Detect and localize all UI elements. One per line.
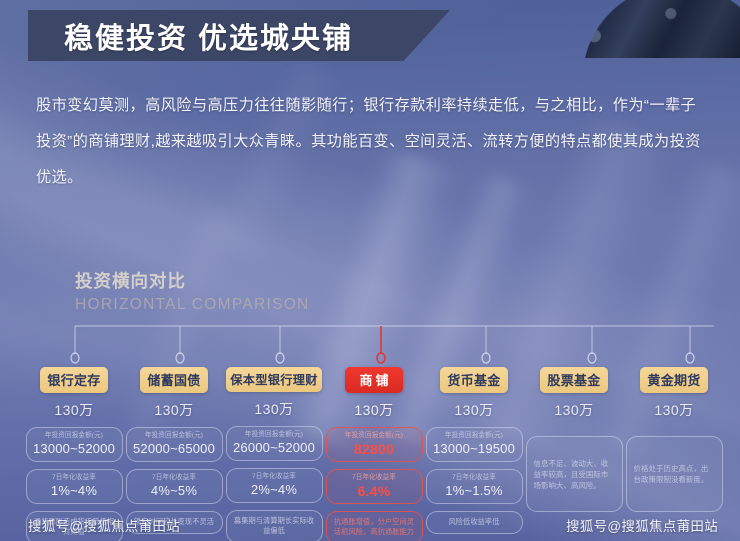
metric-label: 年投资回报金额(元) xyxy=(429,431,520,440)
metric-cell-yield: 7日年化收益率 6.4% xyxy=(326,469,423,504)
metric-cell-yield: 7日年化收益率 1%~4% xyxy=(26,469,123,504)
body-paragraph: 股市变幻莫测，高风险与高压力往往随影随行；银行存款利率持续走低，与之相比，作为“… xyxy=(36,88,708,196)
note-text: 风险低收益率低 xyxy=(431,517,518,527)
metric-cell-note: 价格处于历史高点，出台政策限制没看新度。 xyxy=(626,436,723,512)
metric-label: 7日年化收益率 xyxy=(29,473,120,482)
column-title: 黄金期货 xyxy=(640,367,707,393)
comparison-column-highlighted[interactable]: 商铺 130万 年投资回报金额(元) 82800 7日年化收益率 6.4% 抗通… xyxy=(324,367,424,527)
metric-label: 7日年化收益率 xyxy=(429,473,520,482)
column-title: 股票基金 xyxy=(540,367,607,393)
column-principal: 130万 xyxy=(54,400,93,420)
column-principal: 130万 xyxy=(154,400,193,420)
watermark-left: 搜狐号@搜狐焦点莆田站 xyxy=(28,515,180,535)
metric-cell-note: 信息不足、波动大、收益率较高，且受国际市场影响大、高风险。 xyxy=(526,436,623,512)
note-text: 信息不足、波动大、收益率较高，且受国际市场影响大、高风险。 xyxy=(534,458,615,491)
comparison-column[interactable]: 保本型银行理财 130万 年投资回报金额(元) 26000~52000 7日年化… xyxy=(224,367,324,527)
column-principal: 130万 xyxy=(254,399,293,419)
metric-cell-return: 年投资回报金额(元) 82800 xyxy=(326,427,423,462)
metric-cell-note: 抗通胀增值，分户空间灵活机风险，高抗通胀能力 xyxy=(326,511,423,541)
metric-value: 13000~19500 xyxy=(429,441,520,457)
note-text: 抗通胀增值，分户空间灵活机风险，高抗通胀能力 xyxy=(331,517,418,537)
watermark-right: 搜狐号@搜狐焦点莆田站 xyxy=(566,515,718,535)
comparison-column[interactable]: 储蓄国债 130万 年投资回报金额(元) 52000~65000 7日年化收益率… xyxy=(124,367,224,527)
metric-label: 年投资回报金额(元) xyxy=(229,430,320,439)
title-banner: 稳健投资 优选城央铺 xyxy=(28,10,450,61)
metric-label: 7日年化收益率 xyxy=(329,473,420,482)
metric-cell-yield: 7日年化收益率 1%~1.5% xyxy=(426,469,523,504)
metric-value: 1%~1.5% xyxy=(429,483,520,499)
metric-value: 52000~65000 xyxy=(129,441,220,457)
metric-cell-return: 年投资回报金额(元) 13000~52000 xyxy=(26,427,123,462)
metric-cell-yield: 7日年化收益率 4%~5% xyxy=(126,469,223,504)
column-title: 保本型银行理财 xyxy=(226,367,321,392)
column-principal: 130万 xyxy=(354,400,393,420)
comparison-columns: 银行定存 130万 年投资回报金额(元) 13000~52000 7日年化收益率… xyxy=(24,367,724,527)
section-heading-cn: 投资横向对比 xyxy=(75,268,310,293)
metric-label: 7日年化收益率 xyxy=(129,473,220,482)
comparison-column[interactable]: 黄金期货 130万 价格处于历史高点，出台政策限制没看新度。 xyxy=(624,367,724,527)
poster-canvas: 稳健投资 优选城央铺 股市变幻莫测，高风险与高压力往往随影随行；银行存款利率持续… xyxy=(0,0,740,541)
metric-value: 82800 xyxy=(329,441,420,457)
column-principal: 130万 xyxy=(554,400,593,420)
metric-label: 7日年化收益率 xyxy=(229,472,320,481)
aerial-photo-image xyxy=(558,0,740,58)
metric-value: 26000~52000 xyxy=(229,440,320,456)
metric-cell-yield: 7日年化收益率 2%~4% xyxy=(226,468,323,503)
metric-value: 13000~52000 xyxy=(29,441,120,457)
column-title: 货币基金 xyxy=(440,367,507,393)
comparison-column[interactable]: 银行定存 130万 年投资回报金额(元) 13000~52000 7日年化收益率… xyxy=(24,367,124,527)
metric-value: 1%~4% xyxy=(29,483,120,499)
metric-label: 年投资回报金额(元) xyxy=(129,431,220,440)
column-title: 储蓄国债 xyxy=(140,367,207,393)
metric-cell-note: 风险低收益率低 xyxy=(426,511,523,534)
metric-value: 6.4% xyxy=(329,483,420,499)
comparison-column[interactable]: 货币基金 130万 年投资回报金额(元) 13000~19500 7日年化收益率… xyxy=(424,367,524,527)
section-heading: 投资横向对比 HORIZONTAL COMPARISON xyxy=(75,268,310,314)
column-principal: 130万 xyxy=(654,400,693,420)
metric-value: 2%~4% xyxy=(229,482,320,498)
section-heading-en: HORIZONTAL COMPARISON xyxy=(75,296,310,314)
metric-value: 4%~5% xyxy=(129,483,220,499)
metric-cell-note: 募集期与清算期长实际收益偏低 xyxy=(226,510,323,541)
metric-cell-return: 年投资回报金额(元) 52000~65000 xyxy=(126,427,223,462)
column-title: 商铺 xyxy=(345,367,402,393)
note-text: 价格处于历史高点，出台政策限制没看新度。 xyxy=(634,463,715,485)
timeline-connector xyxy=(0,322,740,368)
column-title: 银行定存 xyxy=(40,367,107,393)
note-text: 募集期与清算期长实际收益偏低 xyxy=(231,516,318,536)
metric-label: 年投资回报金额(元) xyxy=(329,431,420,440)
column-principal: 130万 xyxy=(454,400,493,420)
metric-label: 年投资回报金额(元) xyxy=(29,431,120,440)
metric-cell-return: 年投资回报金额(元) 13000~19500 xyxy=(426,427,523,462)
comparison-column[interactable]: 股票基金 130万 信息不足、波动大、收益率较高，且受国际市场影响大、高风险。 xyxy=(524,367,624,527)
metric-cell-return: 年投资回报金额(元) 26000~52000 xyxy=(226,426,323,461)
banner-title: 稳健投资 优选城央铺 xyxy=(64,15,353,57)
